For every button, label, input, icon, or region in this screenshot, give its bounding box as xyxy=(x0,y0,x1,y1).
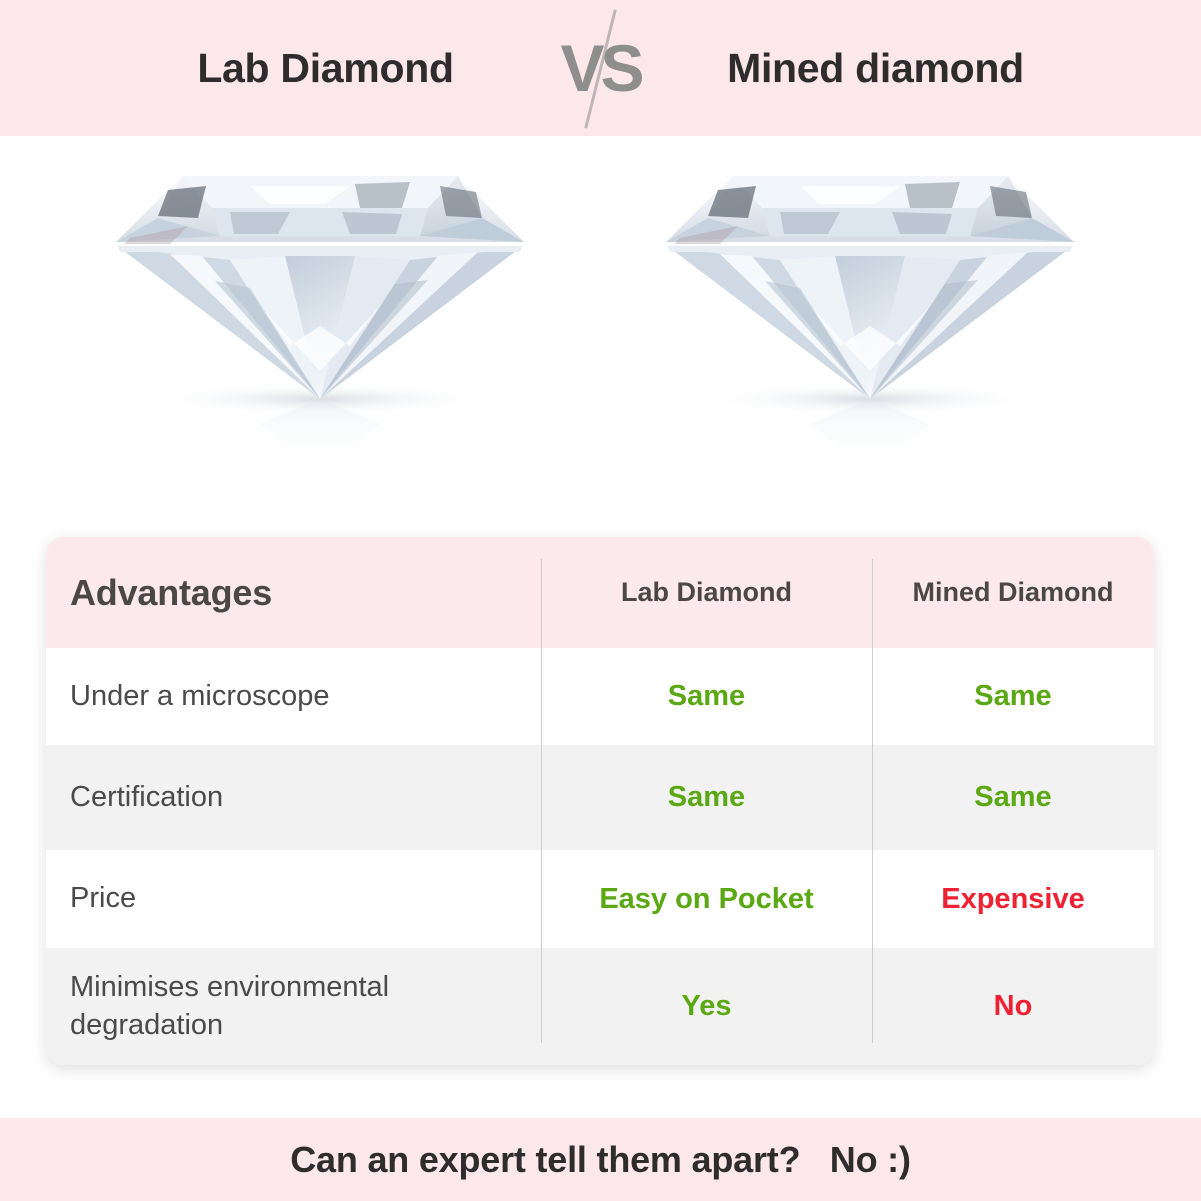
vs-separator: VS xyxy=(536,0,666,136)
row-lab-value: Easy on Pocket xyxy=(599,883,813,915)
bottom-banner: Can an expert tell them apart? No :) xyxy=(0,1118,1201,1201)
header-cell-lab: Lab Diamond xyxy=(541,577,872,608)
header-lab-label: Lab Diamond xyxy=(621,577,792,607)
row-label-cell: Price xyxy=(46,880,541,917)
header-cell-mined: Mined Diamond xyxy=(872,577,1154,608)
lab-diamond-image xyxy=(110,156,530,486)
row-mined-cell: Same xyxy=(872,780,1154,815)
column-divider-1 xyxy=(541,559,542,1043)
row-mined-value: Same xyxy=(974,781,1051,813)
footer-question: Can an expert tell them apart? No :) xyxy=(290,1139,911,1181)
row-mined-cell: No xyxy=(872,989,1154,1024)
header-mined-label: Mined Diamond xyxy=(913,577,1114,607)
diamond-image-area xyxy=(0,136,1201,532)
row-lab-cell: Same xyxy=(541,679,872,714)
row-lab-value: Same xyxy=(668,680,745,712)
table-row: Minimises environmental degradation Yes … xyxy=(46,948,1154,1065)
table-header-row: Advantages Lab Diamond Mined Diamond xyxy=(46,537,1154,648)
top-banner: Lab Diamond VS Mined diamond xyxy=(0,0,1201,136)
column-divider-2 xyxy=(872,559,873,1043)
row-mined-value: Expensive xyxy=(941,883,1084,915)
mined-diamond-title: Mined diamond xyxy=(666,45,1086,92)
row-label-cell: Certification xyxy=(46,779,541,816)
row-mined-value: No xyxy=(994,990,1033,1022)
table-row: Price Easy on Pocket Expensive xyxy=(46,850,1154,948)
row-lab-cell: Same xyxy=(541,780,872,815)
header-cell-advantages: Advantages xyxy=(46,572,541,614)
row-label: Price xyxy=(70,882,136,914)
comparison-table: Advantages Lab Diamond Mined Diamond Und… xyxy=(46,537,1154,1065)
table-row: Certification Same Same xyxy=(46,745,1154,850)
header-advantages-label: Advantages xyxy=(70,572,272,613)
row-label: Certification xyxy=(70,781,223,813)
row-label: Minimises environmental degradation xyxy=(70,971,389,1040)
row-lab-value: Yes xyxy=(682,990,732,1022)
mined-diamond-image xyxy=(660,156,1080,486)
row-lab-cell: Easy on Pocket xyxy=(541,882,872,917)
row-label: Under a microscope xyxy=(70,680,330,712)
table-row: Under a microscope Same Same xyxy=(46,648,1154,745)
vs-label: VS xyxy=(536,0,666,136)
row-label-cell: Under a microscope xyxy=(46,678,541,715)
row-mined-cell: Expensive xyxy=(872,882,1154,917)
lab-diamond-title: Lab Diamond xyxy=(116,45,536,92)
row-lab-cell: Yes xyxy=(541,989,872,1024)
row-lab-value: Same xyxy=(668,781,745,813)
row-mined-value: Same xyxy=(974,680,1051,712)
row-mined-cell: Same xyxy=(872,679,1154,714)
row-label-cell: Minimises environmental degradation xyxy=(46,969,541,1043)
